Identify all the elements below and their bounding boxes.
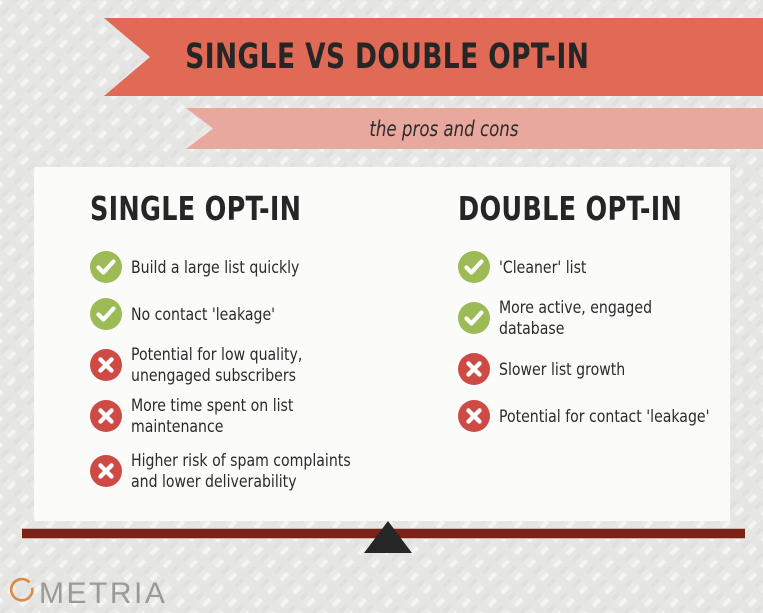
list-item-label: Potential for contact 'leakage' <box>499 406 709 427</box>
title-banner: SINGLE VS DOUBLE OPT-IN <box>104 18 763 96</box>
check-circle-icon <box>458 302 490 334</box>
logo-wordmark: METRIA <box>39 579 167 609</box>
list-item: No contact 'leakage' <box>90 297 386 331</box>
list-item-label: Build a large list quickly <box>131 257 299 278</box>
page-subtitle: the pros and cons <box>369 117 580 141</box>
list-item: Higher risk of spam complaints and lower… <box>90 450 386 492</box>
list-item-label: More active, engaged database <box>499 297 718 339</box>
cross-circle-icon <box>458 400 490 432</box>
list-item-label: No contact 'leakage' <box>131 304 275 325</box>
check-circle-icon <box>90 251 122 283</box>
list-item-label: Slower list growth <box>499 359 625 380</box>
list-item: Slower list growth <box>458 352 730 386</box>
list-item-label: Potential for low quality, unengaged sub… <box>131 344 373 386</box>
item-list-single: Build a large list quickly No contact 'l… <box>90 250 386 492</box>
item-list-double: 'Cleaner' list More active, engaged data… <box>458 250 730 433</box>
infographic-canvas: SINGLE VS DOUBLE OPT-IN the pros and con… <box>0 0 763 613</box>
column-double-opt-in: DOUBLE OPT-IN 'Cleaner' list More active… <box>386 167 730 521</box>
balance-fulcrum-triangle <box>364 521 412 553</box>
subtitle-banner: the pros and cons <box>186 108 763 149</box>
list-item: More time spent on list maintenance <box>90 395 386 437</box>
broken-ring-icon <box>8 576 38 611</box>
list-item: Potential for contact 'leakage' <box>458 399 730 433</box>
list-item-label: Higher risk of spam complaints and lower… <box>131 450 373 492</box>
column-single-opt-in: SINGLE OPT-IN Build a large list quickly… <box>34 167 386 521</box>
list-item: More active, engaged database <box>458 297 730 339</box>
cross-circle-icon <box>90 400 122 432</box>
check-circle-icon <box>458 251 490 283</box>
list-item-label: More time spent on list maintenance <box>131 395 373 437</box>
ometria-logo: METRIA <box>8 576 167 611</box>
cross-circle-icon <box>90 349 122 381</box>
list-item-label: 'Cleaner' list <box>499 257 586 278</box>
column-heading-double: DOUBLE OPT-IN <box>458 167 692 228</box>
column-heading-single: SINGLE OPT-IN <box>90 167 345 228</box>
check-circle-icon <box>90 298 122 330</box>
comparison-columns: SINGLE OPT-IN Build a large list quickly… <box>34 167 730 521</box>
list-item: 'Cleaner' list <box>458 250 730 284</box>
page-title: SINGLE VS DOUBLE OPT-IN <box>185 37 681 77</box>
list-item: Potential for low quality, unengaged sub… <box>90 344 386 386</box>
list-item: Build a large list quickly <box>90 250 386 284</box>
cross-circle-icon <box>90 455 122 487</box>
cross-circle-icon <box>458 353 490 385</box>
